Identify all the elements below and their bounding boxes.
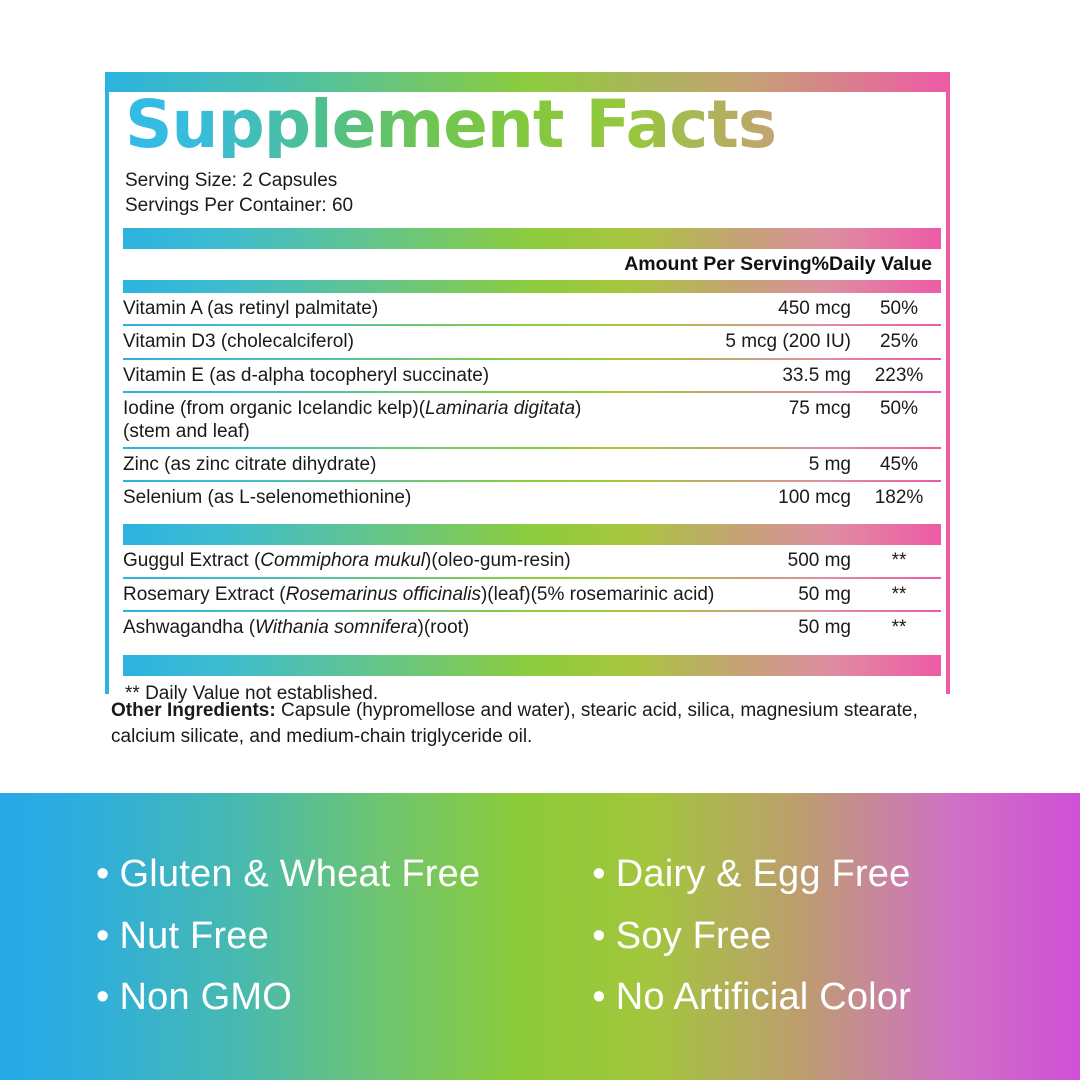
claim-label: Gluten & Wheat Free: [120, 853, 481, 895]
vitamins-table: Vitamin A (as retinyl palmitate) 450 mcg…: [123, 293, 941, 513]
divider-bar-medium: [123, 280, 941, 293]
ingredient-name: Rosemary Extract (Rosemarinus officinali…: [123, 579, 723, 610]
ingredient-name: Zinc (as zinc citrate dihydrate): [123, 449, 723, 480]
list-item: •Non GMO: [96, 978, 480, 1018]
ingredient-amount: 33.5 mg: [723, 360, 857, 391]
list-item: •Soy Free: [592, 917, 911, 957]
claim-label: Non GMO: [120, 976, 292, 1018]
bullet-icon: •: [592, 976, 606, 1018]
claims-column-left: •Gluten & Wheat Free •Nut Free •Non GMO: [96, 855, 480, 1019]
claims-column-right: •Dairy & Egg Free •Soy Free •No Artifici…: [592, 855, 911, 1019]
ingredient-amount: 75 mcg: [723, 393, 857, 447]
ingredient-daily-value: **: [857, 545, 941, 576]
list-item: •Dairy & Egg Free: [592, 855, 911, 895]
ingredient-name: Guggul Extract (Commiphora mukul)(oleo-g…: [123, 545, 723, 576]
other-ingredients: Other Ingredients: Capsule (hypromellose…: [111, 698, 951, 749]
claim-label: Dairy & Egg Free: [616, 853, 911, 895]
table-row: Ashwagandha (Withania somnifera)(root) 5…: [123, 612, 941, 643]
bullet-icon: •: [592, 853, 606, 895]
ingredient-name: Iodine (from organic Icelandic kelp)(Lam…: [123, 393, 723, 447]
bullet-icon: •: [96, 853, 110, 895]
table-row: Selenium (as L-selenomethionine) 100 mcg…: [123, 482, 941, 513]
other-ingredients-label: Other Ingredients:: [111, 700, 276, 721]
ingredient-amount: 50 mg: [723, 612, 857, 643]
claim-label: Nut Free: [120, 915, 269, 957]
ingredient-amount: 5 mcg (200 IU): [723, 326, 857, 357]
ingredient-daily-value: **: [857, 612, 941, 643]
table-row: Zinc (as zinc citrate dihydrate) 5 mg 45…: [123, 449, 941, 480]
ingredient-daily-value: 182%: [857, 482, 941, 513]
divider-bar-section: [123, 524, 941, 545]
serving-size: Serving Size: 2 Capsules: [125, 168, 936, 193]
list-item: •Nut Free: [96, 917, 480, 957]
list-item: •No Artificial Color: [592, 978, 911, 1018]
table-row: Iodine (from organic Icelandic kelp)(Lam…: [123, 393, 941, 447]
table-row: Vitamin D3 (cholecalciferol) 5 mcg (200 …: [123, 326, 941, 357]
ingredient-daily-value: 25%: [857, 326, 941, 357]
ingredient-name: Selenium (as L-selenomethionine): [123, 482, 723, 513]
ingredient-daily-value: **: [857, 579, 941, 610]
bullet-icon: •: [96, 915, 110, 957]
supplement-facts-panel: Supplement Facts Serving Size: 2 Capsule…: [105, 72, 950, 694]
ingredient-daily-value: 50%: [857, 293, 941, 324]
ingredient-name: Vitamin E (as d-alpha tocopheryl succina…: [123, 360, 723, 391]
scientific-name: Laminaria digitata: [425, 398, 575, 419]
column-headers: Amount Per Serving %Daily Value: [123, 253, 932, 276]
ingredient-daily-value: 45%: [857, 449, 941, 480]
ingredient-daily-value: 50%: [857, 393, 941, 447]
list-item: •Gluten & Wheat Free: [96, 855, 480, 895]
amount-per-serving-header: Amount Per Serving: [624, 253, 811, 276]
ingredient-amount: 100 mcg: [723, 482, 857, 513]
ingredient-daily-value: 223%: [857, 360, 941, 391]
ingredient-amount: 50 mg: [723, 579, 857, 610]
bullet-icon: •: [592, 915, 606, 957]
ingredient-amount: 500 mg: [723, 545, 857, 576]
divider-bar-thick-top: [123, 228, 941, 249]
ingredient-name: Vitamin A (as retinyl palmitate): [123, 293, 723, 324]
claim-label: Soy Free: [616, 915, 772, 957]
table-row: Vitamin A (as retinyl palmitate) 450 mcg…: [123, 293, 941, 324]
ingredient-name: Ashwagandha (Withania somnifera)(root): [123, 612, 723, 643]
claim-label: No Artificial Color: [616, 976, 911, 1018]
daily-value-header: %Daily Value: [812, 253, 932, 276]
scientific-name: Commiphora mukul: [260, 550, 425, 571]
supplement-facts-panel-inner: Supplement Facts Serving Size: 2 Capsule…: [109, 92, 946, 706]
table-row: Guggul Extract (Commiphora mukul)(oleo-g…: [123, 545, 941, 576]
servings-per-container: Servings Per Container: 60: [125, 193, 936, 218]
serving-info: Serving Size: 2 Capsules Servings Per Co…: [125, 168, 936, 218]
divider-bar-bottom: [123, 655, 941, 676]
table-row: Rosemary Extract (Rosemarinus officinali…: [123, 579, 941, 610]
claims-banner: •Gluten & Wheat Free •Nut Free •Non GMO …: [0, 793, 1080, 1080]
ingredient-amount: 450 mcg: [723, 293, 857, 324]
botanicals-table: Guggul Extract (Commiphora mukul)(oleo-g…: [123, 545, 941, 643]
table-row: Vitamin E (as d-alpha tocopheryl succina…: [123, 360, 941, 391]
bullet-icon: •: [96, 976, 110, 1018]
ingredient-amount: 5 mg: [723, 449, 857, 480]
scientific-name: Withania somnifera: [255, 617, 417, 638]
scientific-name: Rosemarinus officinalis: [286, 584, 481, 605]
ingredient-name: Vitamin D3 (cholecalciferol): [123, 326, 723, 357]
ingredient-name-line2: (stem and leaf): [123, 420, 723, 443]
page-title: Supplement Facts: [125, 92, 936, 158]
